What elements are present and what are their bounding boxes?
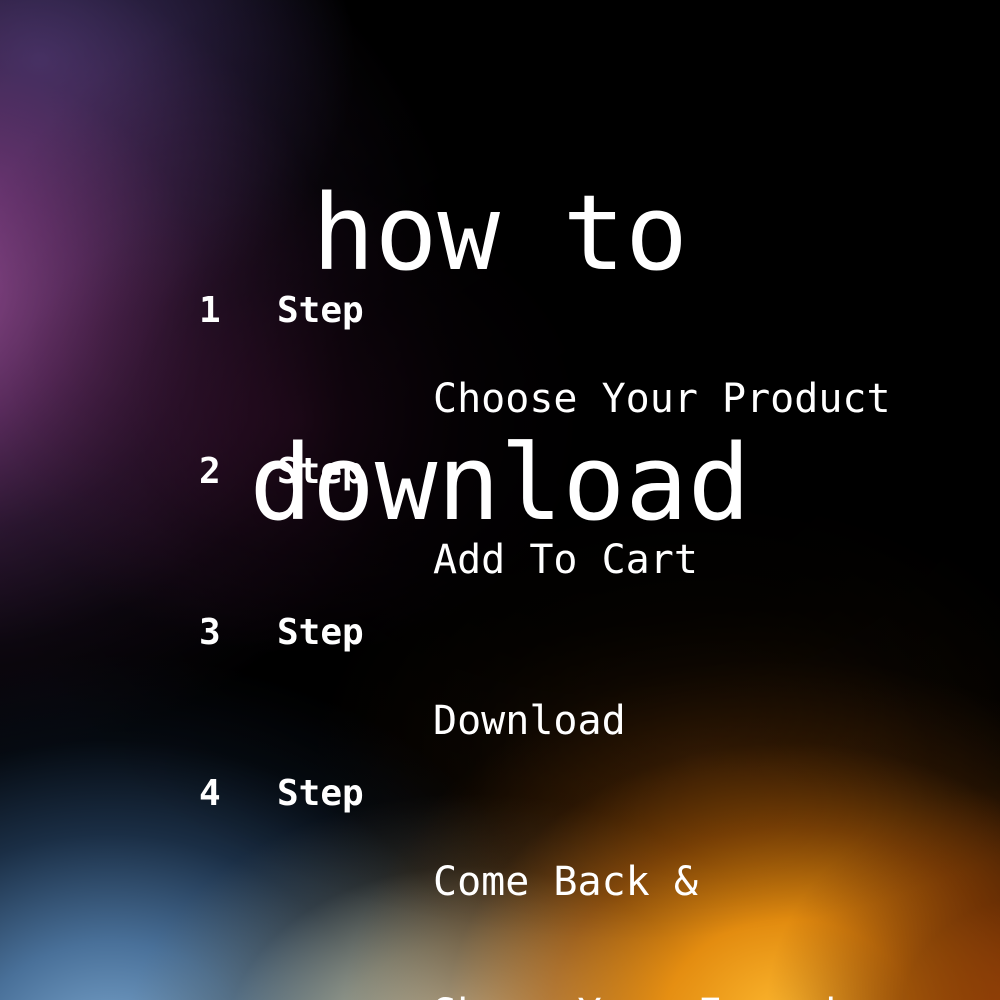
- step-description: Come Back & Share Your Experience: [433, 765, 939, 1000]
- step-label: Step: [277, 604, 364, 662]
- step-number: 3: [199, 604, 221, 662]
- step-label: Step: [277, 765, 364, 823]
- poster-canvas: how to download 1 Step Choose Your Produ…: [0, 0, 1000, 1000]
- step-number: 4: [199, 765, 221, 823]
- page-title-line-1: how to: [0, 192, 1000, 275]
- step-description-line: Share Your Experience: [433, 992, 939, 1000]
- list-item: 4 Step Come Back & Share Your Experience: [0, 765, 1000, 926]
- step-description-line: Add To Cart: [433, 538, 698, 582]
- step-description-line: Choose Your Product: [433, 377, 891, 421]
- poster-content: how to download 1 Step Choose Your Produ…: [0, 0, 1000, 1000]
- step-number: 2: [199, 443, 221, 501]
- step-label: Step: [277, 282, 364, 340]
- steps-list: 1 Step Choose Your Product 2 Step Add To…: [0, 282, 1000, 926]
- list-item: 2 Step Add To Cart: [0, 443, 1000, 604]
- step-number: 1: [199, 282, 221, 340]
- step-label: Step: [277, 443, 364, 501]
- list-item: 3 Step Download: [0, 604, 1000, 765]
- step-description-line: Come Back &: [433, 860, 939, 904]
- list-item: 1 Step Choose Your Product: [0, 282, 1000, 443]
- step-description-line: Download: [433, 699, 674, 743]
